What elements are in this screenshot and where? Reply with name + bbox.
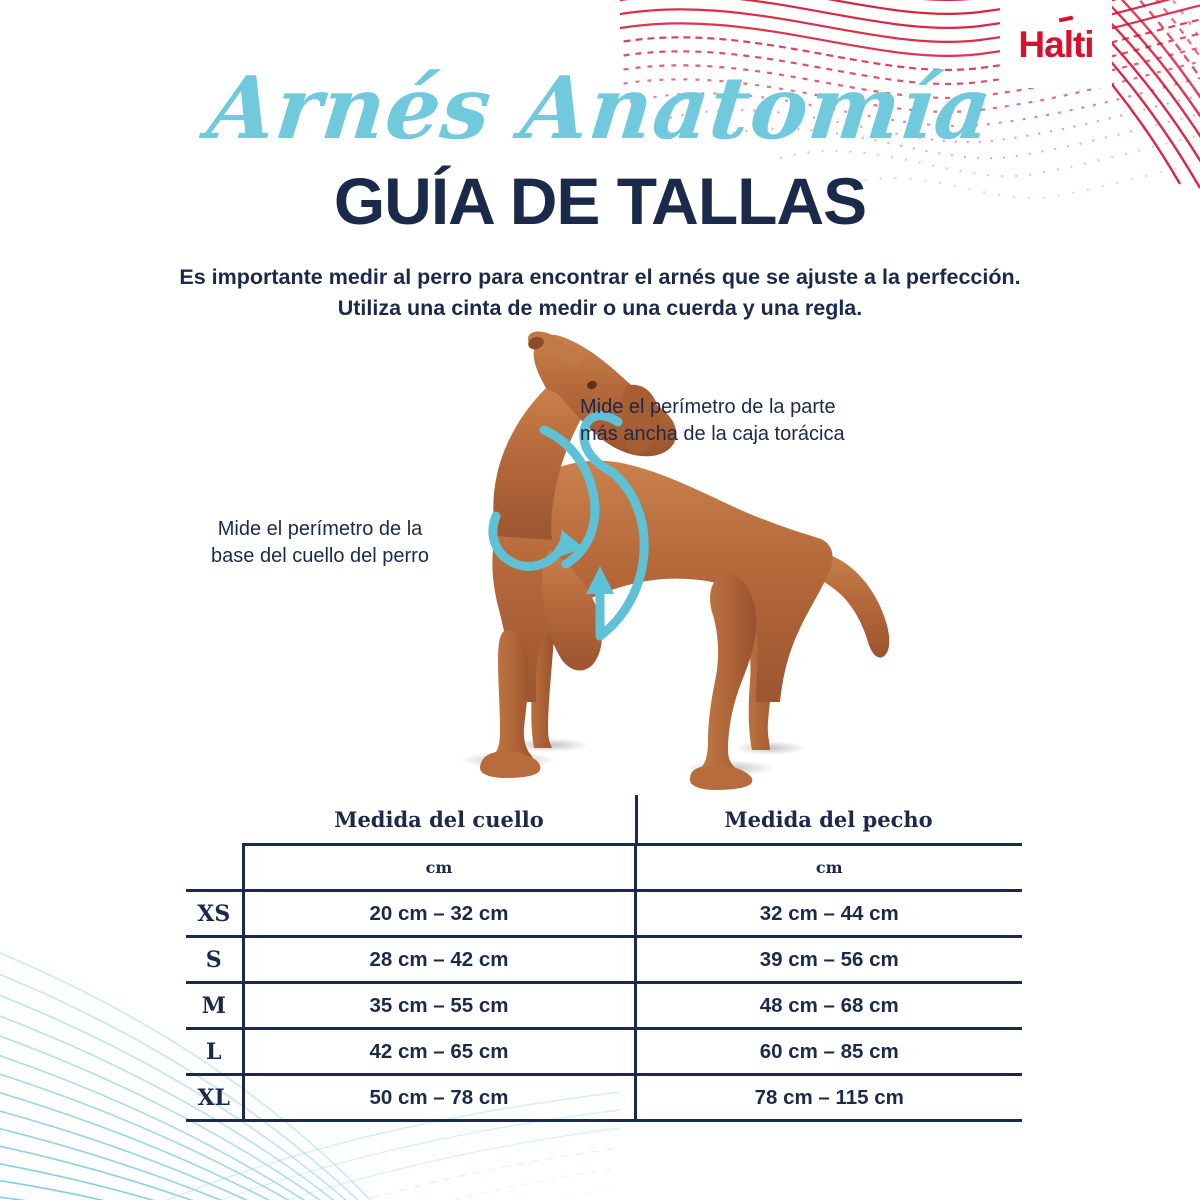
table-group-header-row: Medida del cuello Medida del pecho	[186, 795, 1022, 845]
unit-size-blank	[186, 845, 243, 891]
row-neck: 42 cm – 65 cm	[243, 1029, 635, 1075]
table-unit-row: cm cm	[186, 845, 1022, 891]
size-guide-page: Halti Arnés Anatomía GUÍA DE TALLAS Es i…	[0, 0, 1200, 1200]
chest-annotation-line-1: Mide el perímetro de la parte	[580, 394, 910, 421]
row-size: L	[186, 1029, 243, 1075]
halti-logo: Halti	[1000, 0, 1112, 88]
size-table: Medida del cuello Medida del pecho cm cm…	[186, 795, 1022, 1122]
row-size: XL	[186, 1075, 243, 1121]
halti-logo-text: Halti	[1018, 26, 1093, 63]
size-table-container: Medida del cuello Medida del pecho cm cm…	[186, 795, 1022, 1140]
chest-annotation-line-2: más ancha de la caja torácica	[580, 421, 910, 448]
row-chest: 39 cm – 56 cm	[635, 937, 1022, 983]
subtitle: Es importante medir al perro para encont…	[0, 262, 1200, 324]
unit-neck: cm	[243, 845, 635, 891]
table-row: XL 50 cm – 78 cm 78 cm – 115 cm	[186, 1075, 1022, 1121]
table-row: L 42 cm – 65 cm 60 cm – 85 cm	[186, 1029, 1022, 1075]
subtitle-line-2: Utiliza una cinta de medir o una cuerda …	[0, 293, 1200, 324]
group-header-size	[186, 795, 243, 845]
row-neck: 50 cm – 78 cm	[243, 1075, 635, 1121]
row-neck: 28 cm – 42 cm	[243, 937, 635, 983]
table-row: XS 20 cm – 32 cm 32 cm – 44 cm	[186, 891, 1022, 937]
size-table-body: XS 20 cm – 32 cm 32 cm – 44 cm S 28 cm –…	[186, 891, 1022, 1121]
row-chest: 60 cm – 85 cm	[635, 1029, 1022, 1075]
page-title: GUÍA DE TALLAS	[0, 168, 1200, 234]
row-size: S	[186, 937, 243, 983]
group-header-neck: Medida del cuello	[243, 795, 635, 845]
row-size: M	[186, 983, 243, 1029]
header-column-divider	[635, 795, 638, 843]
chest-annotation: Mide el perímetro de la parte más ancha …	[580, 394, 910, 448]
neck-annotation-line-1: Mide el perímetro de la	[185, 516, 455, 543]
group-header-chest: Medida del pecho	[635, 795, 1022, 845]
row-size: XS	[186, 891, 243, 937]
row-chest: 48 cm – 68 cm	[635, 983, 1022, 1029]
row-neck: 35 cm – 55 cm	[243, 983, 635, 1029]
halti-logo-strike-icon	[1059, 16, 1074, 23]
subtitle-line-1: Es importante medir al perro para encont…	[0, 262, 1200, 293]
row-neck: 20 cm – 32 cm	[243, 891, 635, 937]
unit-chest: cm	[635, 845, 1022, 891]
row-chest: 78 cm – 115 cm	[635, 1075, 1022, 1121]
table-row: M 35 cm – 55 cm 48 cm – 68 cm	[186, 983, 1022, 1029]
table-row: S 28 cm – 42 cm 39 cm – 56 cm	[186, 937, 1022, 983]
row-chest: 32 cm – 44 cm	[635, 891, 1022, 937]
neck-annotation-line-2: base del cuello del perro	[185, 543, 455, 570]
neck-annotation: Mide el perímetro de la base del cuello …	[185, 516, 455, 570]
paw-shadow	[734, 741, 806, 755]
